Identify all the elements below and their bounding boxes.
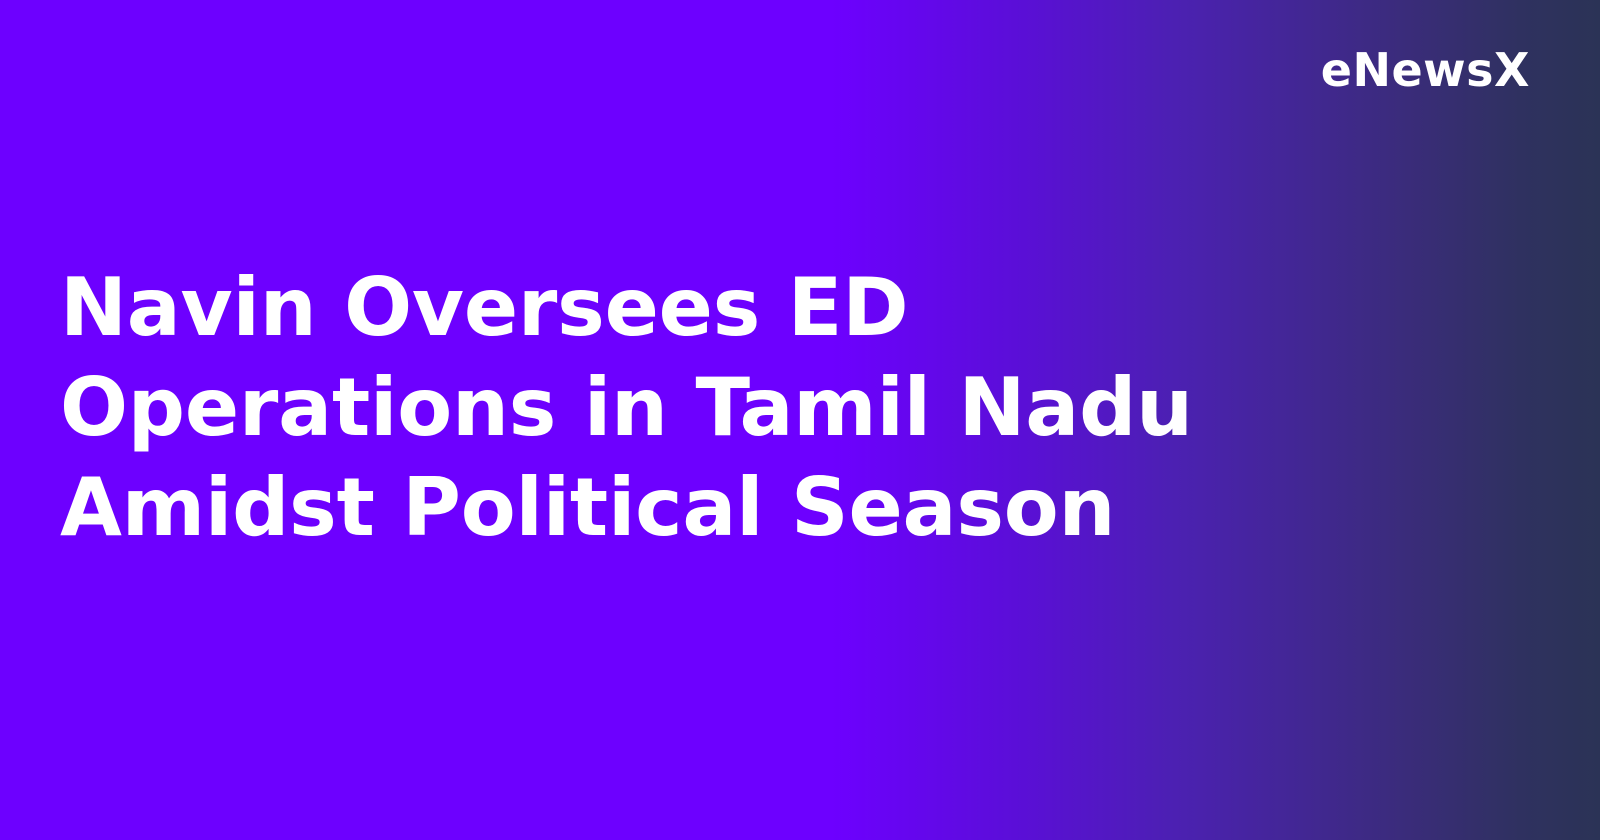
- news-social-card: eNewsX Navin Oversees ED Operations in T…: [0, 0, 1600, 840]
- brand-logo: eNewsX: [1321, 47, 1530, 93]
- headline-line-2: Operations in Tamil Nadu: [60, 358, 1380, 458]
- page-title: Navin Oversees ED Operations in Tamil Na…: [60, 258, 1380, 558]
- headline-block: Navin Oversees ED Operations in Tamil Na…: [60, 258, 1380, 558]
- brand-header: eNewsX: [0, 0, 1600, 140]
- headline-line-3: Amidst Political Season: [60, 458, 1380, 558]
- headline-line-1: Navin Oversees ED: [60, 258, 1380, 358]
